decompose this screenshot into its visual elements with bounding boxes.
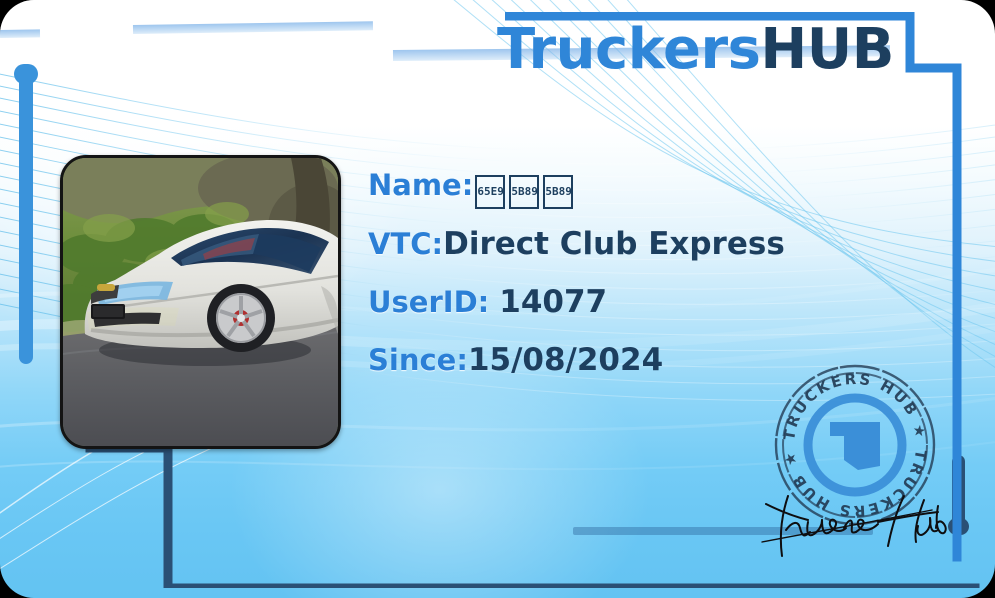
id-card: TruckersHUB — [0, 0, 995, 598]
brand-logo: TruckersHUB — [497, 22, 894, 78]
avatar — [60, 155, 341, 449]
decorative-bar-top-1 — [133, 21, 373, 34]
truck-t-logo-icon — [830, 422, 880, 470]
field-value-since: 15/08/2024 — [468, 342, 663, 378]
field-row-vtc: VTC: Direct Club Express — [368, 226, 928, 284]
field-row-userid: UserID: 14077 — [368, 284, 928, 342]
field-value-name-tofu: 65 E9 5B 89 5B 89 — [475, 175, 573, 209]
field-value-userid: 14077 — [499, 284, 607, 320]
glyph-hex-hi: 65 — [477, 186, 490, 197]
field-row-name: Name: 65 E9 5B 89 5B 89 — [368, 168, 928, 226]
glyph-hex-hi: 5B — [511, 186, 524, 197]
missing-glyph-box: 5B 89 — [509, 175, 539, 209]
brand-logo-suffix: HUB — [760, 17, 894, 82]
signature — [752, 490, 952, 560]
field-label-since: Since: — [368, 343, 468, 377]
glyph-hex-lo: E9 — [491, 186, 504, 197]
glyph-hex-lo: 89 — [525, 186, 538, 197]
field-value-vtc: Direct Club Express — [443, 226, 785, 262]
field-label-name: Name: — [368, 168, 473, 202]
avatar-photo-image — [63, 158, 338, 446]
missing-glyph-box: 5B 89 — [543, 175, 573, 209]
brand-logo-prefix: Truckers — [497, 17, 760, 82]
decorative-bar-top-3 — [0, 29, 40, 38]
accent-pin-right — [952, 455, 965, 530]
field-label-vtc: VTC: — [368, 227, 443, 261]
accent-pin-left — [19, 64, 33, 364]
glyph-hex-lo: 89 — [559, 186, 572, 197]
glyph-hex-hi: 5B — [545, 186, 558, 197]
missing-glyph-box: 65 E9 — [475, 175, 505, 209]
field-label-userid: UserID: — [368, 285, 489, 319]
